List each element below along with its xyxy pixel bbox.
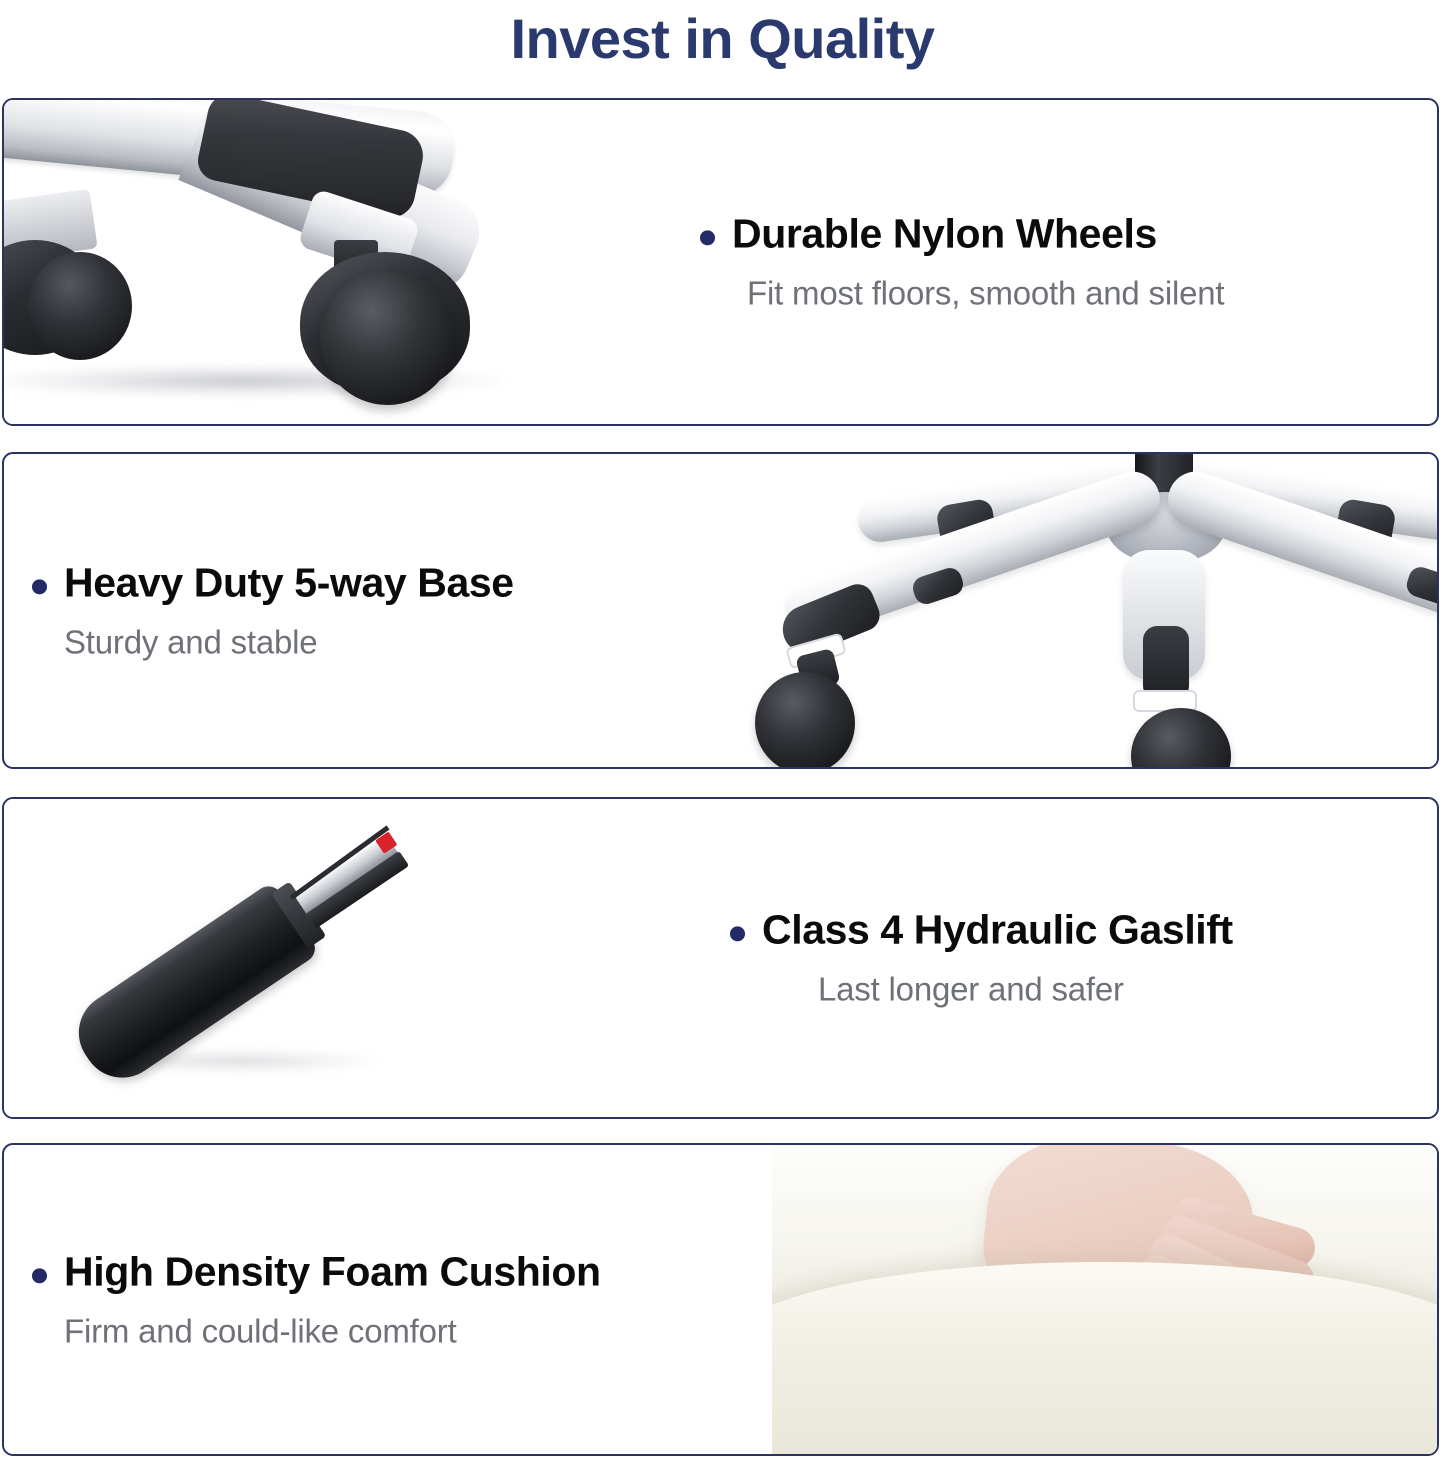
feature-heading-label: Heavy Duty 5-way Base [64, 561, 514, 604]
feature-heading-label: Durable Nylon Wheels [732, 212, 1157, 255]
bullet-dot-icon [32, 1268, 47, 1283]
feature-text-block: Class 4 Hydraulic Gaslift Last longer an… [730, 908, 1233, 1007]
feature-heading: Durable Nylon Wheels [700, 212, 1224, 255]
feature-subtitle: Sturdy and stable [64, 624, 514, 660]
nylon-wheel-rear [28, 252, 132, 360]
five-way-star-base-photo [707, 454, 1437, 767]
caster-wheel-left [755, 672, 855, 767]
feature-text-block: High Density Foam Cushion Firm and could… [32, 1250, 601, 1349]
feature-subtitle: Last longer and safer [818, 971, 1233, 1007]
caster-stem-center [1143, 626, 1189, 700]
feature-subtitle: Firm and could-like comfort [64, 1313, 601, 1349]
nylon-wheel-front [320, 270, 455, 405]
gas-lift-cylinder-photo [4, 799, 564, 1117]
feature-subtitle: Fit most floors, smooth and silent [747, 275, 1224, 311]
bullet-dot-icon [700, 230, 715, 245]
page-title: Invest in Quality [0, 0, 1445, 92]
feature-text-block: Durable Nylon Wheels Fit most floors, sm… [700, 212, 1224, 311]
bullet-dot-icon [730, 926, 745, 941]
feature-card-hydraulic-gaslift: Class 4 Hydraulic Gaslift Last longer an… [2, 797, 1439, 1119]
foam-front-edge [772, 1262, 1437, 1454]
feature-card-nylon-wheels: Durable Nylon Wheels Fit most floors, sm… [2, 98, 1439, 426]
nylon-caster-wheels-photo [4, 100, 564, 424]
feature-heading: Heavy Duty 5-way Base [32, 561, 514, 604]
feature-heading-label: Class 4 Hydraulic Gaslift [762, 908, 1233, 951]
feature-card-foam-cushion: High Density Foam Cushion Firm and could… [2, 1143, 1439, 1456]
feature-heading: Class 4 Hydraulic Gaslift [730, 908, 1233, 951]
feature-heading: High Density Foam Cushion [32, 1250, 601, 1293]
bullet-dot-icon [32, 579, 47, 594]
caster-wheel-center [1131, 708, 1231, 767]
feature-card-heavy-duty-base: Heavy Duty 5-way Base Sturdy and stable [2, 452, 1439, 769]
feature-text-block: Heavy Duty 5-way Base Sturdy and stable [32, 561, 514, 660]
feature-heading-label: High Density Foam Cushion [64, 1250, 601, 1293]
foam-cushion-hand-press-photo [772, 1145, 1437, 1454]
